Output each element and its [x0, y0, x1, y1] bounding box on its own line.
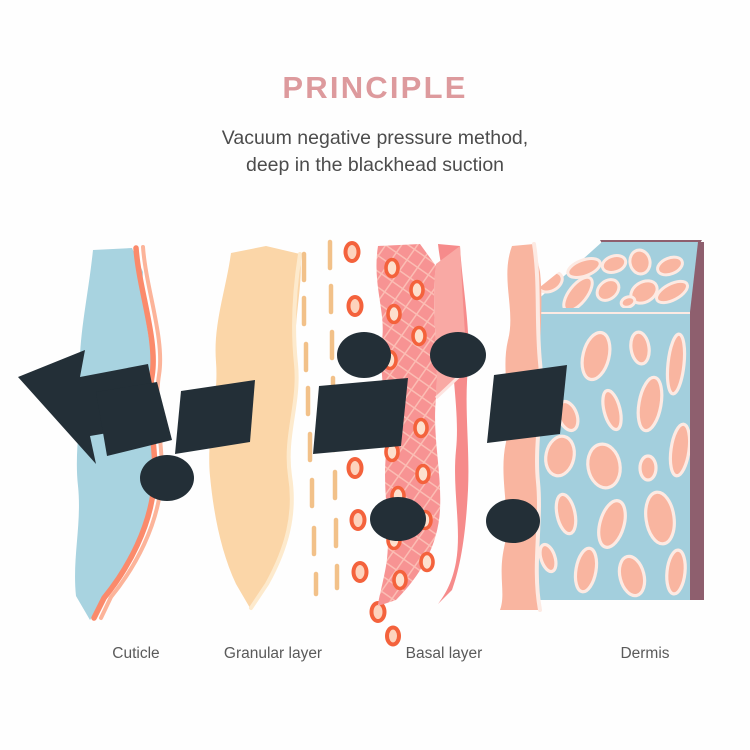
subtitle-line-1: Vacuum negative pressure method,	[0, 125, 750, 152]
arrow-segment-4	[487, 365, 567, 443]
caption-cuticle: Cuticle	[112, 645, 159, 663]
page-title: PRINCIPLE	[0, 0, 750, 103]
header: PRINCIPLE Vacuum negative pressure metho…	[0, 0, 750, 179]
blackhead	[337, 332, 391, 378]
blackhead	[486, 499, 540, 543]
caption-dermis: Dermis	[620, 645, 669, 663]
arrow-segment-2	[175, 380, 255, 454]
caption-basal-layer: Basal layer	[406, 645, 483, 663]
page-subtitle: Vacuum negative pressure method, deep in…	[0, 103, 750, 179]
caption-granular-layer: Granular layer	[224, 645, 322, 663]
blackhead	[140, 455, 194, 501]
blackhead	[370, 497, 426, 541]
blackhead	[430, 332, 486, 378]
arrow-segment-3	[313, 378, 408, 454]
layer-captions: Cuticle Granular layer Basal layer Dermi…	[0, 645, 750, 675]
skin-layers-illustration	[0, 228, 750, 648]
subtitle-line-2: deep in the blackhead suction	[0, 152, 750, 179]
principle-diagram-page: PRINCIPLE Vacuum negative pressure metho…	[0, 0, 750, 750]
